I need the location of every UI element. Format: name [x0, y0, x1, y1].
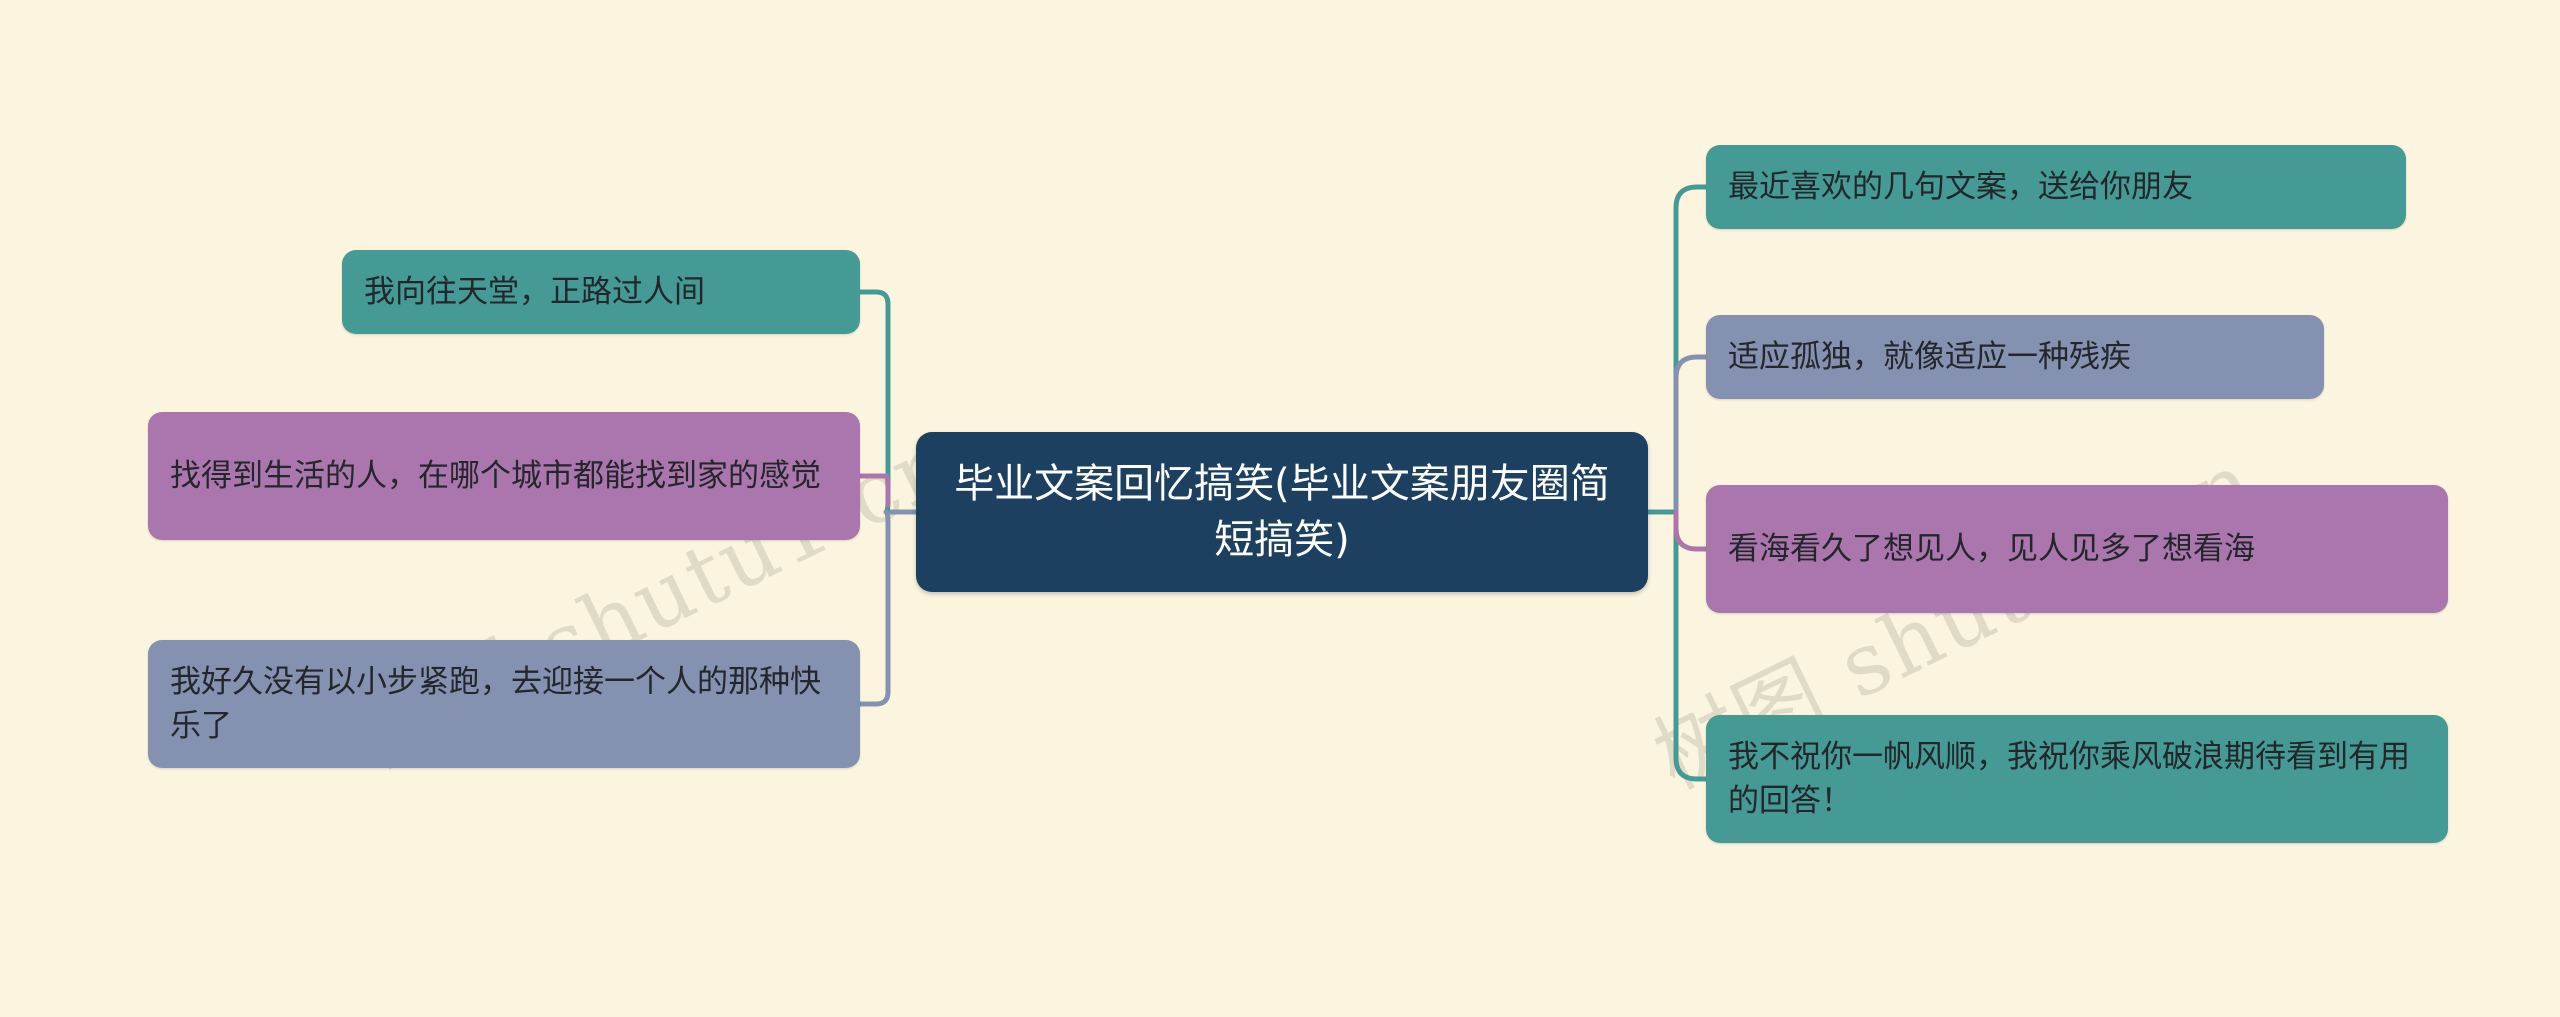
root-node[interactable]: 毕业文案回忆搞笑(毕业文案朋友圈简短搞笑): [916, 432, 1648, 592]
connector-right-4: [1676, 512, 1706, 779]
left-branch-node-2-label: 找得到生活的人，在哪个城市都能找到家的感觉: [170, 454, 838, 498]
connector-right-3: [1676, 512, 1706, 549]
right-branch-node-2-label: 适应孤独，就像适应一种残疾: [1728, 335, 2302, 379]
left-branch-node-2[interactable]: 找得到生活的人，在哪个城市都能找到家的感觉: [148, 412, 860, 540]
connector-left-1: [860, 292, 888, 512]
connector-left-2: [860, 476, 888, 505]
right-branch-node-2[interactable]: 适应孤独，就像适应一种残疾: [1706, 315, 2324, 399]
mindmap-canvas: 树图 shutu1.cn 树图 shutu1.cn 我向往天堂，正路过人间 找得…: [0, 0, 2560, 1017]
right-branch-node-3-label: 看海看久了想见人，见人见多了想看海: [1728, 527, 2426, 571]
left-branch-node-3[interactable]: 我好久没有以小步紧跑，去迎接一个人的那种快乐了: [148, 640, 860, 768]
connector-left-3: [860, 512, 888, 704]
right-branch-node-1[interactable]: 最近喜欢的几句文案，送给你朋友: [1706, 145, 2406, 229]
left-branch-node-3-label: 我好久没有以小步紧跑，去迎接一个人的那种快乐了: [170, 660, 838, 748]
root-node-label: 毕业文案回忆搞笑(毕业文案朋友圈简短搞笑): [942, 456, 1622, 568]
connector-right-2: [1676, 357, 1706, 512]
left-branch-node-1[interactable]: 我向往天堂，正路过人间: [342, 250, 860, 334]
right-branch-node-4[interactable]: 我不祝你一帆风顺，我祝你乘风破浪期待看到有用的回答！: [1706, 715, 2448, 843]
right-branch-node-4-label: 我不祝你一帆风顺，我祝你乘风破浪期待看到有用的回答！: [1728, 735, 2426, 823]
connector-right-1: [1676, 187, 1706, 512]
right-branch-node-3[interactable]: 看海看久了想见人，见人见多了想看海: [1706, 485, 2448, 613]
right-branch-node-1-label: 最近喜欢的几句文案，送给你朋友: [1728, 165, 2384, 209]
left-branch-node-1-label: 我向往天堂，正路过人间: [364, 270, 838, 314]
